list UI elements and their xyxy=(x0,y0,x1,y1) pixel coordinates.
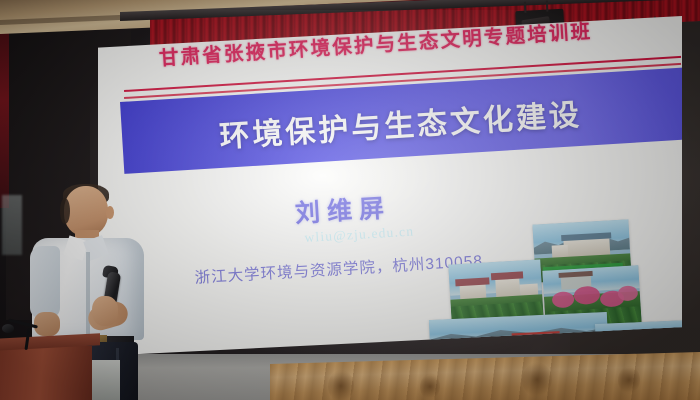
presenter-head xyxy=(64,186,108,236)
presenter-forearm-left xyxy=(34,312,60,336)
presenter-hand-holding-mic xyxy=(92,296,118,326)
projection-screen: 甘肃省张掖市环境保护与生态文明专题培训班 环境保护与生态文化建设 刘维屏 wli… xyxy=(98,16,682,356)
left-window-reflection xyxy=(2,195,22,255)
podium-body xyxy=(0,346,92,400)
podium-mic-head xyxy=(2,324,14,333)
lecture-photograph: 甘肃省张掖市环境保护与生态文明专题培训班 环境保护与生态文化建设 刘维屏 wli… xyxy=(0,0,700,400)
presenter-hair-side xyxy=(60,198,70,224)
left-curtain-edge xyxy=(0,28,9,208)
presenter-ear xyxy=(106,206,114,219)
presenter-sleeve-left xyxy=(30,246,60,318)
